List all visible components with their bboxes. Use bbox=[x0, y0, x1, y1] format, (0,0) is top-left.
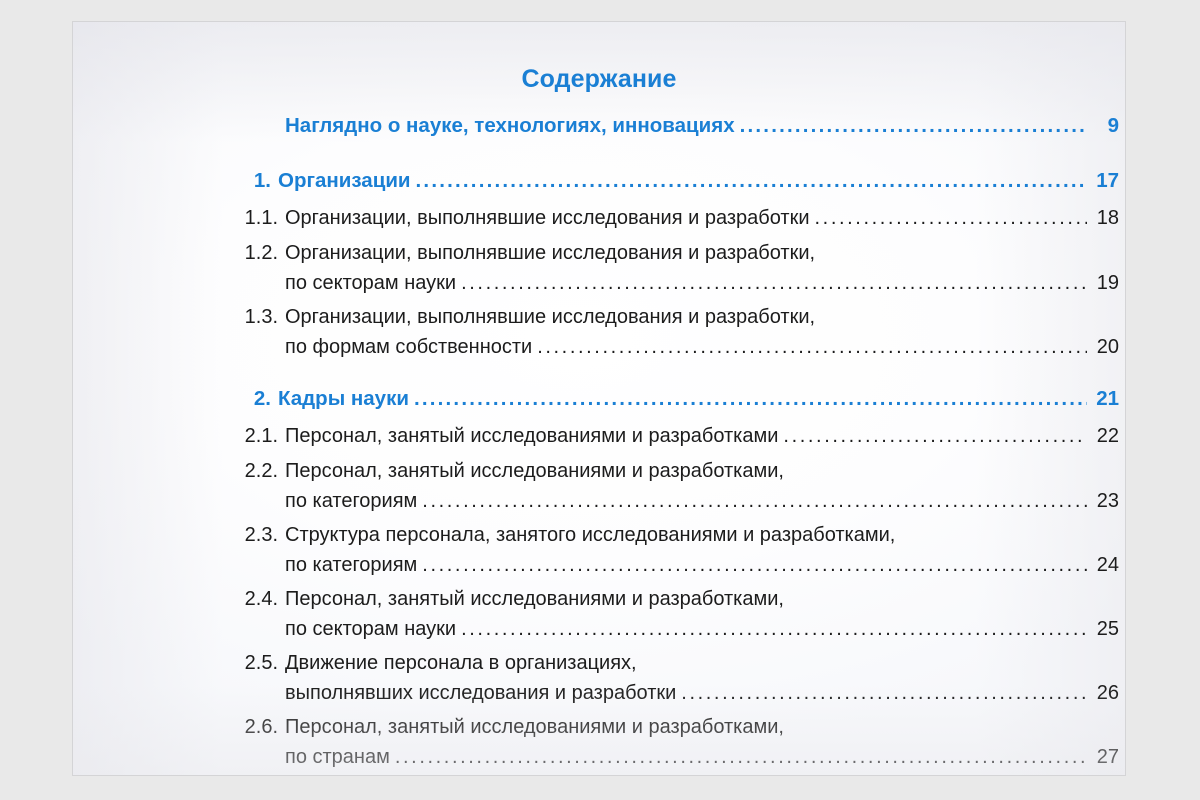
toc-entry-2.3[interactable]: 2.3.Структура персонала, занятого исслед… bbox=[223, 524, 1119, 547]
dot-leader: ........................................… bbox=[414, 387, 1087, 411]
page-number: 23 bbox=[1088, 490, 1119, 513]
section-title: Кадры науки bbox=[278, 387, 413, 411]
entry-number: 2.3. bbox=[223, 524, 285, 547]
dot-leader: ........................................… bbox=[461, 272, 1087, 295]
toc-entry-1.1[interactable]: 1.1.Организации, выполнявшие исследовани… bbox=[223, 207, 1119, 230]
entry-title-continued: выполнявших исследования и разработки bbox=[285, 682, 680, 705]
toc-entry-1.2[interactable]: 1.2.Организации, выполнявшие исследовани… bbox=[223, 242, 1119, 265]
toc-entry-2.6-line2[interactable]: по странам..............................… bbox=[285, 746, 1119, 769]
table-of-contents: Содержание Наглядно о науке, технологиях… bbox=[73, 22, 1125, 775]
entry-title: Персонал, занятый исследованиями и разра… bbox=[285, 588, 788, 611]
page-number: 9 bbox=[1088, 114, 1119, 138]
toc-entry-2.4-line2[interactable]: по секторам науки.......................… bbox=[285, 618, 1119, 641]
page-number: 17 bbox=[1088, 169, 1119, 193]
page-number: 24 bbox=[1088, 554, 1119, 577]
scanned-page: Содержание Наглядно о науке, технологиях… bbox=[73, 22, 1125, 775]
dot-leader: ........................................… bbox=[416, 169, 1087, 193]
toc-entry-2.5[interactable]: 2.5.Движение персонала в организациях, bbox=[223, 652, 1119, 675]
toc-section-2[interactable]: 2.Кадры науки...........................… bbox=[248, 387, 1119, 411]
dot-leader: ........................................… bbox=[740, 114, 1087, 138]
dot-leader: ........................................… bbox=[681, 682, 1087, 705]
entry-number: 2.5. bbox=[223, 652, 285, 675]
entry-title-continued: по категориям bbox=[285, 554, 421, 577]
entry-number: 1. bbox=[248, 169, 278, 193]
entry-title: Движение персонала в организациях, bbox=[285, 652, 641, 675]
page-number: 20 bbox=[1088, 336, 1119, 359]
toc-entry-2.4[interactable]: 2.4.Персонал, занятый исследованиями и р… bbox=[223, 588, 1119, 611]
entry-title: Персонал, занятый исследованиями и разра… bbox=[285, 460, 788, 483]
toc-entry-2.2-line2[interactable]: по категориям...........................… bbox=[285, 490, 1119, 513]
entry-title-continued: по секторам науки bbox=[285, 618, 460, 641]
entry-title-continued: по секторам науки bbox=[285, 272, 460, 295]
toc-entry-2.1[interactable]: 2.1.Персонал, занятый исследованиями и р… bbox=[223, 425, 1119, 448]
entry-number: 1.2. bbox=[223, 242, 285, 265]
page-number: 19 bbox=[1088, 272, 1119, 295]
toc-entry-intro[interactable]: Наглядно о науке, технологиях, инновация… bbox=[285, 114, 1119, 138]
entry-title-continued: по странам bbox=[285, 746, 394, 769]
page-number: 18 bbox=[1088, 207, 1119, 230]
page-number: 26 bbox=[1088, 682, 1119, 705]
toc-entry-2.6[interactable]: 2.6.Персонал, занятый исследованиями и р… bbox=[223, 716, 1119, 739]
entry-number: 2.6. bbox=[223, 716, 285, 739]
entry-title: Организации, выполнявшие исследования и … bbox=[285, 207, 814, 230]
dot-leader: ........................................… bbox=[783, 425, 1087, 448]
entry-title-continued: по категориям bbox=[285, 490, 421, 513]
section-title: Организации bbox=[278, 169, 415, 193]
dot-leader: ........................................… bbox=[422, 554, 1087, 577]
dot-leader: ........................................… bbox=[537, 336, 1087, 359]
dot-leader: ........................................… bbox=[815, 207, 1088, 230]
dot-leader: ........................................… bbox=[422, 490, 1087, 513]
toc-entry-2.2[interactable]: 2.2.Персонал, занятый исследованиями и р… bbox=[223, 460, 1119, 483]
entry-number: 2.4. bbox=[223, 588, 285, 611]
toc-entry-2.5-line2[interactable]: выполнявших исследования и разработки...… bbox=[285, 682, 1119, 705]
page-title: Содержание bbox=[73, 65, 1125, 94]
toc-entry-1.2-line2[interactable]: по секторам науки.......................… bbox=[285, 272, 1119, 295]
entry-number: 2. bbox=[248, 387, 278, 411]
entry-title: Организации, выполнявшие исследования и … bbox=[285, 242, 819, 265]
entry-number: 1.3. bbox=[223, 306, 285, 329]
entry-title: Наглядно о науке, технологиях, инновация… bbox=[285, 114, 739, 138]
dot-leader: ........................................… bbox=[461, 618, 1087, 641]
toc-entry-1.3-line2[interactable]: по формам собственности.................… bbox=[285, 336, 1119, 359]
entry-title: Персонал, занятый исследованиями и разра… bbox=[285, 716, 788, 739]
toc-entry-1.3[interactable]: 1.3.Организации, выполнявшие исследовани… bbox=[223, 306, 1119, 329]
entry-title: Структура персонала, занятого исследован… bbox=[285, 524, 899, 547]
dot-leader: ........................................… bbox=[395, 746, 1087, 769]
toc-section-1[interactable]: 1.Организации...........................… bbox=[248, 169, 1119, 193]
entry-title-continued: по формам собственности bbox=[285, 336, 536, 359]
page-number: 25 bbox=[1088, 618, 1119, 641]
page-number: 27 bbox=[1088, 746, 1119, 769]
page-number: 21 bbox=[1088, 387, 1119, 411]
toc-entry-2.3-line2[interactable]: по категориям...........................… bbox=[285, 554, 1119, 577]
entry-number: 1.1. bbox=[223, 207, 285, 230]
page-number: 22 bbox=[1088, 425, 1119, 448]
entry-number: 2.1. bbox=[223, 425, 285, 448]
entry-number: 2.2. bbox=[223, 460, 285, 483]
entry-title: Персонал, занятый исследованиями и разра… bbox=[285, 425, 782, 448]
entry-title: Организации, выполнявшие исследования и … bbox=[285, 306, 819, 329]
